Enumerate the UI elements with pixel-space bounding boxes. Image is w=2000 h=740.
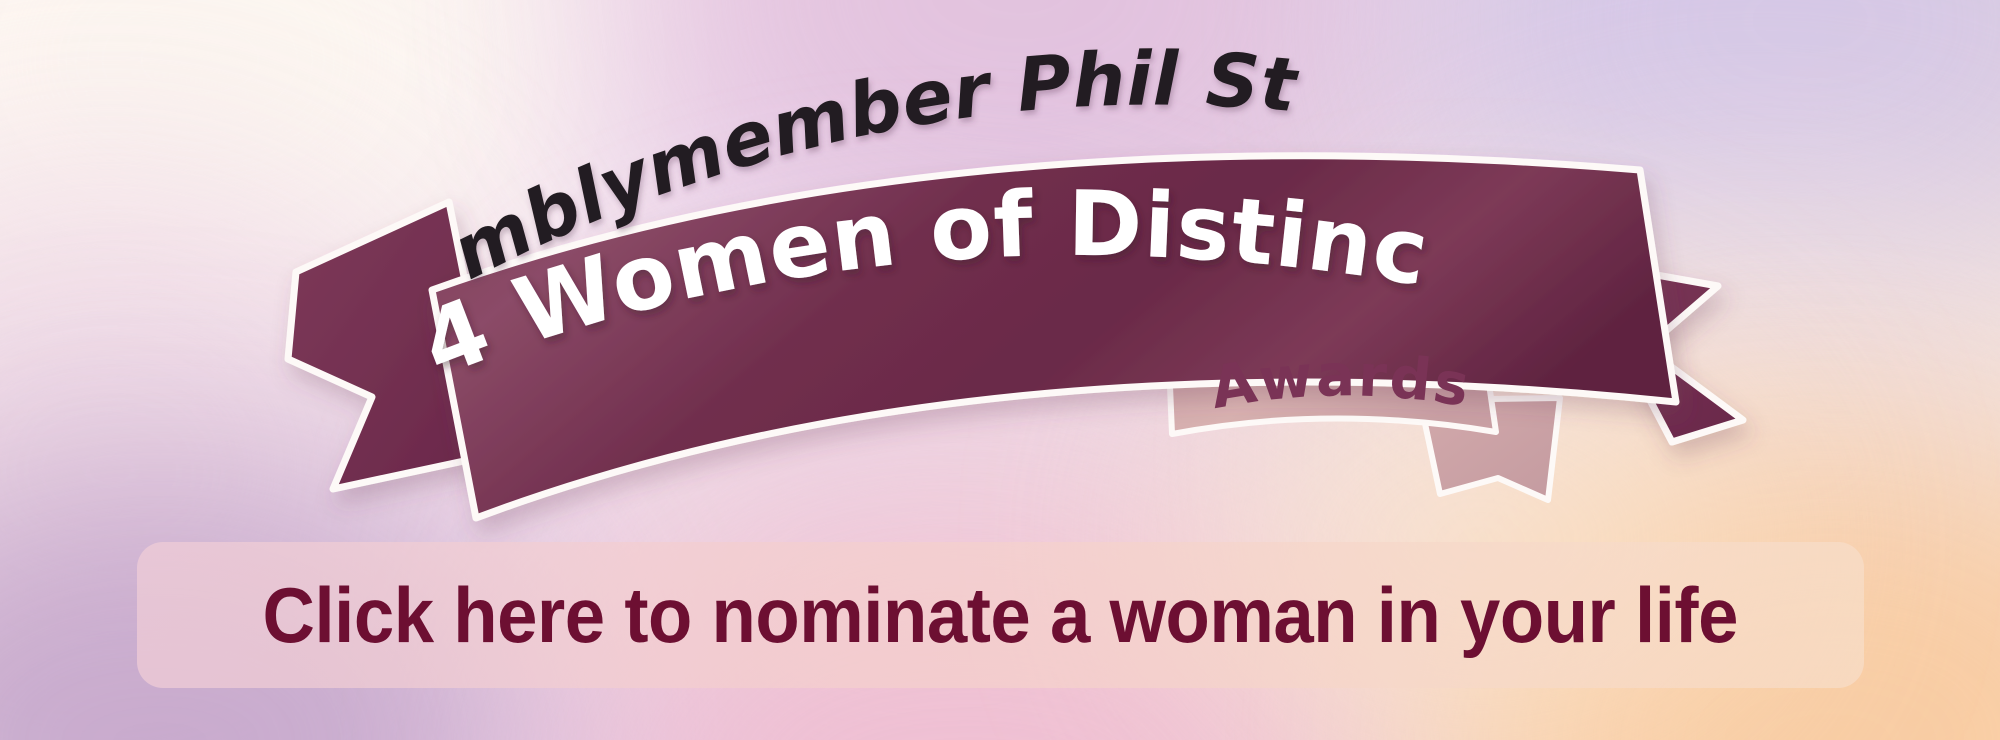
nominate-cta-button[interactable]: Click here to nominate a woman in your l… bbox=[137, 542, 1864, 688]
women-of-distinction-banner: Assemblymember Phil Steck’s 2024 Women o… bbox=[0, 0, 2000, 740]
nominate-cta-label: Click here to nominate a woman in your l… bbox=[263, 576, 1738, 654]
